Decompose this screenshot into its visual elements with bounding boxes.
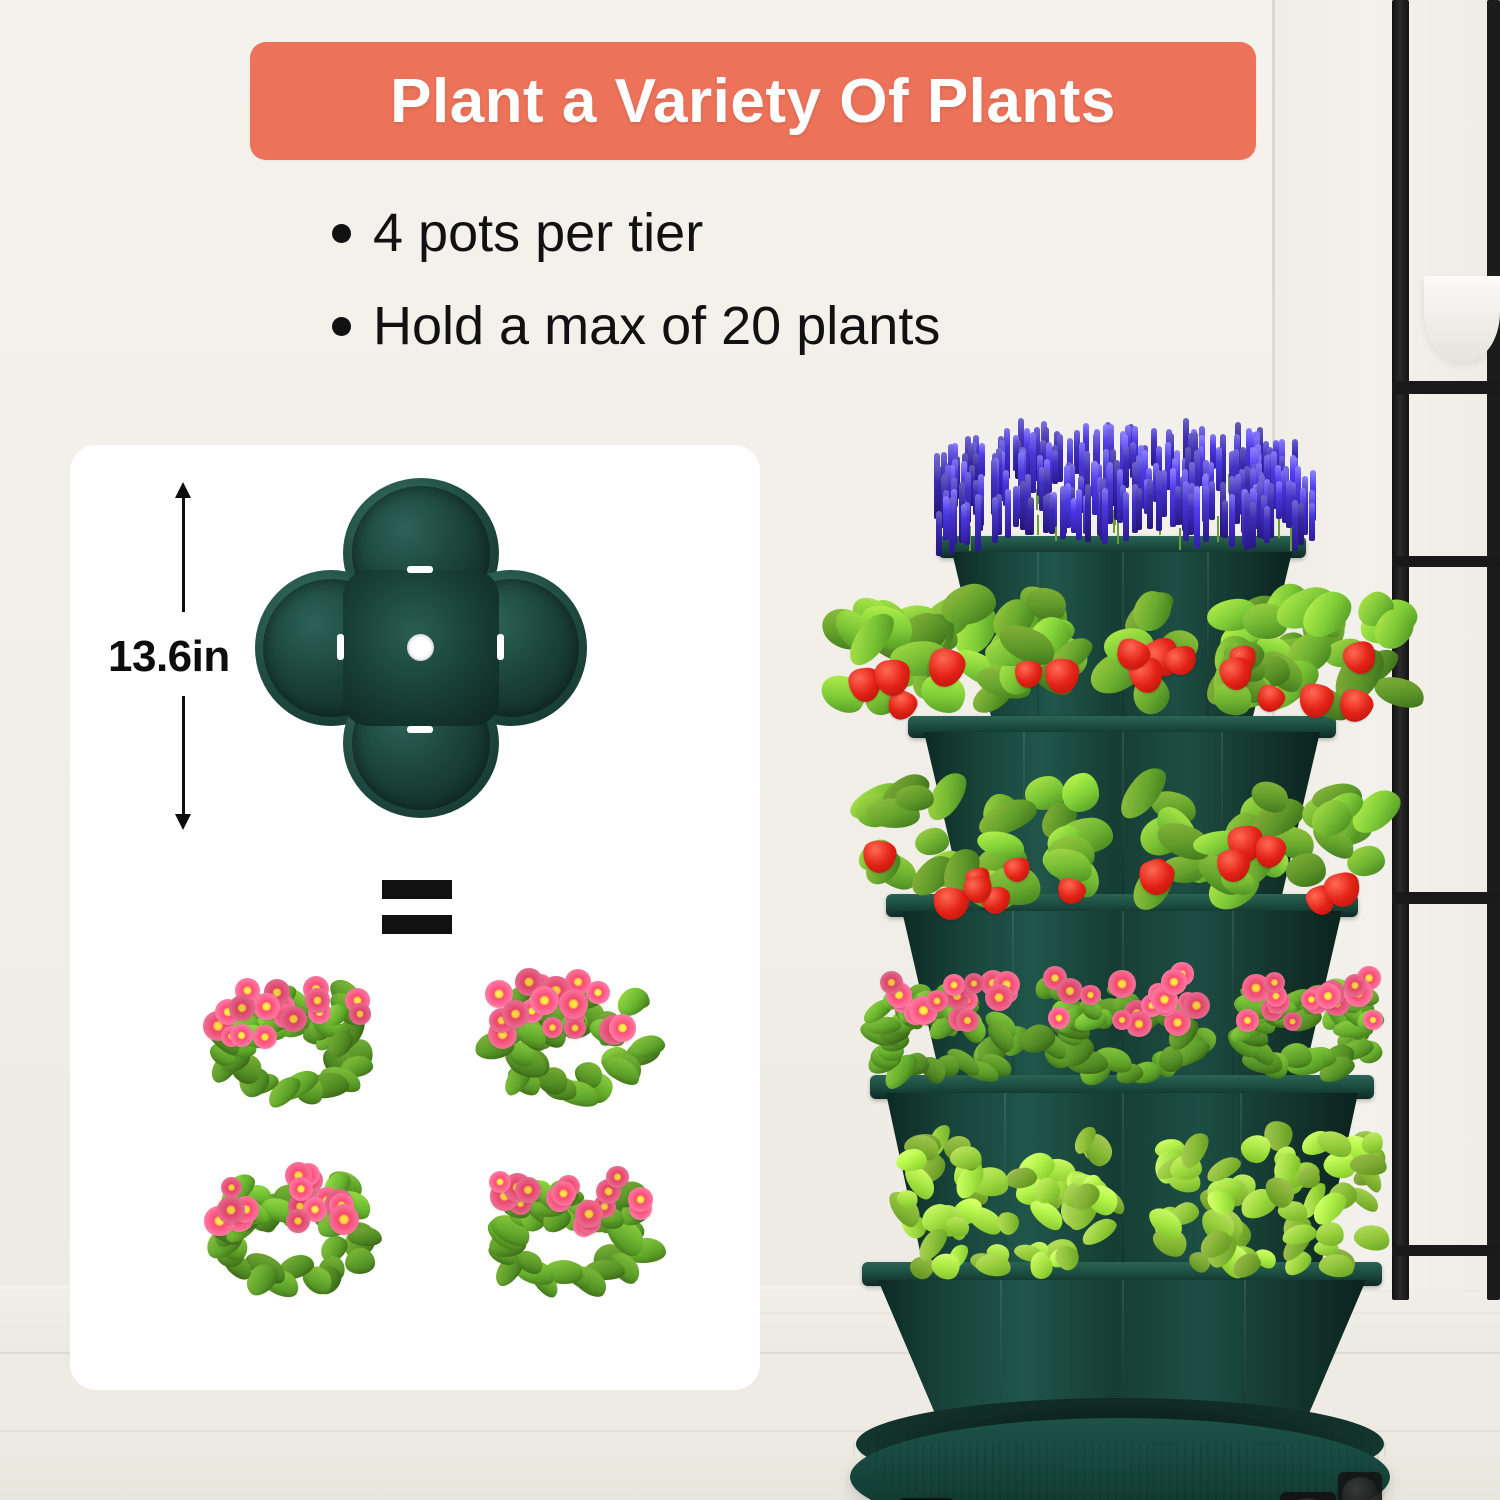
primrose-bloom [253, 1025, 277, 1049]
primrose-bloom [329, 1204, 359, 1234]
muscari-flower-spike [1123, 492, 1129, 541]
tier-2-strawberry-plants [840, 588, 1400, 738]
muscari-flower-spike [1060, 486, 1066, 539]
muscari-flower-spike [975, 494, 981, 552]
primrose-bloom [253, 993, 280, 1020]
caddy-rib [1238, 1442, 1240, 1500]
caster-wheel-rear [1338, 1472, 1382, 1500]
caddy-rib [1061, 1442, 1063, 1500]
muscari-flower-spike [1222, 500, 1228, 538]
muscari-stem [1290, 526, 1292, 552]
muscari-flower-spike [1161, 470, 1167, 517]
strawberry-leaf [1286, 852, 1327, 887]
primrose-bloom [305, 988, 330, 1013]
caddy-rib [1022, 1442, 1024, 1500]
caddy-rib [899, 1442, 901, 1500]
plant-leaf [1158, 1046, 1183, 1073]
list-item: Hold a max of 20 plants [332, 298, 1192, 355]
primrose-bloom [1183, 992, 1210, 1019]
caddy-rib [1169, 1442, 1171, 1500]
muscari-flower-spike [1175, 486, 1181, 525]
primrose-bloom [217, 1196, 245, 1224]
caddy-rib [1138, 1442, 1140, 1500]
plant-equivalent-grid [150, 960, 690, 1300]
list-item: 4 pots per tier [332, 205, 1192, 262]
strawberry-leaf [1062, 773, 1100, 813]
basil-leaf [1352, 1221, 1393, 1254]
flower-cluster [190, 960, 390, 1110]
caddy-rib [1115, 1442, 1117, 1500]
primrose-bloom [515, 1177, 541, 1203]
primrose-bloom [1108, 970, 1136, 998]
muscari-flower-spike [1076, 489, 1082, 541]
caddy-rib [1230, 1442, 1232, 1500]
feature-bullet-list: 4 pots per tier Hold a max of 20 plants [332, 205, 1192, 390]
caddy-rib [1161, 1442, 1163, 1500]
muscari-flower-spike [1049, 497, 1055, 534]
strawberry-clump [858, 784, 1090, 910]
bullet-label: 4 pots per tier [373, 205, 703, 262]
caddy-rib [1223, 1442, 1225, 1500]
caddy-rib [999, 1442, 1001, 1500]
caddy-rib [1200, 1442, 1202, 1500]
caddy-rib [938, 1442, 940, 1500]
primrose-bloom [575, 1200, 603, 1228]
muscari-flower-spike [1250, 502, 1256, 548]
caddy-rib [1277, 1442, 1279, 1500]
primrose-bloom [1363, 1010, 1383, 1030]
flower-cluster [190, 1150, 390, 1300]
caddy-rib [930, 1442, 932, 1500]
caddy-rib [953, 1442, 955, 1500]
caddy-rib [992, 1442, 994, 1500]
shelf-horizontal-rail [1392, 381, 1500, 394]
primrose-bloom [1264, 972, 1285, 993]
primrose-bloom [606, 1166, 629, 1189]
caster-wheel-right [1280, 1492, 1336, 1500]
primrose-bloom [964, 973, 985, 994]
muscari-stem [1117, 521, 1119, 544]
fern-plant [1300, 0, 1500, 330]
strawberry-clump [1140, 780, 1382, 908]
muscari-flower-spike [1123, 445, 1129, 488]
primrose-bloom [229, 995, 255, 1021]
arrow-down-icon [175, 814, 191, 830]
caddy-rib [1007, 1442, 1009, 1500]
muscari-flower-spike [979, 443, 985, 477]
primrose-bloom [1161, 969, 1187, 995]
shelf-horizontal-rail [1392, 892, 1500, 904]
muscari-flower-spike [943, 496, 949, 540]
primrose-clump [846, 964, 1036, 1088]
vent-slot [407, 566, 433, 573]
muscari-flower-spike [1229, 494, 1235, 546]
caddy-rib [1153, 1442, 1155, 1500]
caddy-rib [1046, 1442, 1048, 1500]
tier-4-primrose-plants [840, 950, 1400, 1100]
muscari-flower-spike [1209, 481, 1215, 520]
caddy-rib [1146, 1442, 1148, 1500]
caddy-rib [945, 1442, 947, 1500]
muscari-flower-spike [1276, 481, 1282, 519]
muscari-stem [1278, 518, 1280, 537]
primrose-bloom [489, 1171, 511, 1193]
muscari-flower-spike [1298, 503, 1304, 545]
flower-cluster [470, 960, 670, 1110]
primrose-bloom [542, 1017, 563, 1038]
equals-bar-top [382, 880, 452, 899]
caddy-rib [1076, 1442, 1078, 1500]
muscari-flower-spike [1136, 488, 1142, 530]
basil-clump [904, 1140, 1114, 1280]
primrose-bloom [1344, 974, 1367, 997]
planter-top-view [255, 478, 585, 818]
tier-1-muscari-plants [930, 430, 1320, 550]
caddy-rib [1261, 1442, 1263, 1500]
primrose-bloom [230, 1024, 252, 1046]
caddy-rib [1253, 1442, 1255, 1500]
muscari-stem [1037, 515, 1039, 535]
basil-clump [1162, 1134, 1378, 1280]
caddy-rib [1384, 1442, 1386, 1500]
muscari-flower-spike [1102, 488, 1108, 544]
caddy-rib [915, 1442, 917, 1500]
caddy-rib [1123, 1442, 1125, 1500]
primrose-bloom [289, 1177, 313, 1201]
primrose-bloom [502, 1000, 530, 1028]
caddy-rib [969, 1442, 971, 1500]
caddy-rib [1269, 1442, 1271, 1500]
caddy-rib [861, 1442, 863, 1500]
caddy-rib [884, 1442, 886, 1500]
primrose-bloom [530, 986, 559, 1015]
caddy-rib [922, 1442, 924, 1500]
primrose-bloom [559, 989, 588, 1018]
caddy-rib [1099, 1442, 1101, 1500]
caddy-rib [1107, 1442, 1109, 1500]
caddy-rib [868, 1442, 870, 1500]
caddy-rib [1176, 1442, 1178, 1500]
equals-bar-bottom [382, 915, 452, 934]
primrose-clump [1008, 952, 1236, 1092]
shelf-horizontal-rail [1392, 1245, 1500, 1256]
primrose-bloom [628, 1187, 653, 1212]
primrose-bloom [349, 1003, 371, 1025]
title-banner: Plant a Variety Of Plants [250, 42, 1256, 160]
muscari-flower-spike [1309, 503, 1315, 540]
muscari-flower-spike [1286, 480, 1292, 528]
arrow-up-icon [175, 482, 191, 498]
muscari-flower-spike [1203, 485, 1209, 543]
vent-slot [497, 634, 504, 660]
drain-hole-icon [407, 634, 434, 661]
muscari-flower-spike [1264, 506, 1270, 543]
caddy-rib [1015, 1442, 1017, 1500]
bullet-dot-icon [332, 224, 351, 243]
caddy-rib [1069, 1442, 1071, 1500]
muscari-flower-spike [992, 497, 998, 543]
equals-sign-icon [382, 880, 452, 934]
primrose-bloom [1236, 1009, 1258, 1031]
primrose-bloom [286, 1209, 310, 1233]
muscari-flower-spike [1292, 500, 1298, 551]
primrose-bloom [1048, 1007, 1070, 1029]
tier-5-basil-plants [840, 1130, 1400, 1290]
product-infographic: Plant a Variety Of Plants 4 pots per tie… [0, 0, 1500, 1500]
caddy-rib [1192, 1442, 1194, 1500]
caddy-rib [976, 1442, 978, 1500]
primrose-bloom [280, 1006, 307, 1033]
muscari-flower-spike [1028, 497, 1034, 535]
muscari-stem [1179, 528, 1181, 550]
caddy-rib [961, 1442, 963, 1500]
caddy-rib [907, 1442, 909, 1500]
muscari-flower-spike [1052, 450, 1058, 484]
caddy-rib [1084, 1442, 1086, 1500]
primrose-bloom [926, 990, 948, 1012]
tier-3-strawberry-plants [840, 780, 1400, 920]
muscari-flower-spike [936, 511, 942, 556]
muscari-flower-spike [1013, 486, 1019, 526]
muscari-flower-spike [1194, 486, 1200, 548]
muscari-flower-spike [949, 497, 955, 554]
basil-leaf [1298, 1167, 1321, 1188]
caddy-rib [1130, 1442, 1132, 1500]
caddy-rib [1215, 1442, 1217, 1500]
caddy-rib [892, 1442, 894, 1500]
caddy-rib [1053, 1442, 1055, 1500]
vent-slot [407, 726, 433, 733]
caddy-rib [1030, 1442, 1032, 1500]
caddy-rib [984, 1442, 986, 1500]
bullet-dot-icon [332, 317, 351, 336]
caster-wheel-icon [1342, 1477, 1378, 1500]
muscari-flower-spike [1085, 484, 1091, 542]
caddy-rib [1184, 1442, 1186, 1500]
caddy-rib [876, 1442, 878, 1500]
flower-cluster [470, 1150, 670, 1300]
stackable-planter-tower [840, 430, 1400, 1500]
muscari-stem [1217, 516, 1219, 541]
primrose-bloom [586, 981, 609, 1004]
primrose-bloom [956, 1009, 979, 1032]
vent-slot [337, 634, 344, 660]
caddy-rib [1092, 1442, 1094, 1500]
muscari-flower-spike [1043, 495, 1049, 533]
muscari-flower-spike [961, 504, 967, 544]
plant-leaf [344, 1248, 375, 1275]
primrose-bloom [943, 974, 964, 995]
muscari-flower-spike [1005, 489, 1011, 538]
muscari-flower-spike [1156, 470, 1162, 531]
caddy-rib [1246, 1442, 1248, 1500]
primrose-bloom [551, 1181, 576, 1206]
muscari-flower-spike [1147, 479, 1153, 529]
bullet-label: Hold a max of 20 plants [373, 298, 940, 355]
caddy-rib [853, 1442, 855, 1500]
shelf-horizontal-rail [1392, 556, 1500, 567]
caddy-rib [1038, 1442, 1040, 1500]
caddy-rib [1207, 1442, 1209, 1500]
primrose-bloom [985, 984, 1012, 1011]
primrose-clump [1222, 960, 1400, 1084]
primrose-bloom [609, 1014, 637, 1042]
dimension-label: 13.6in [108, 632, 230, 682]
page-title: Plant a Variety Of Plants [390, 66, 1116, 137]
